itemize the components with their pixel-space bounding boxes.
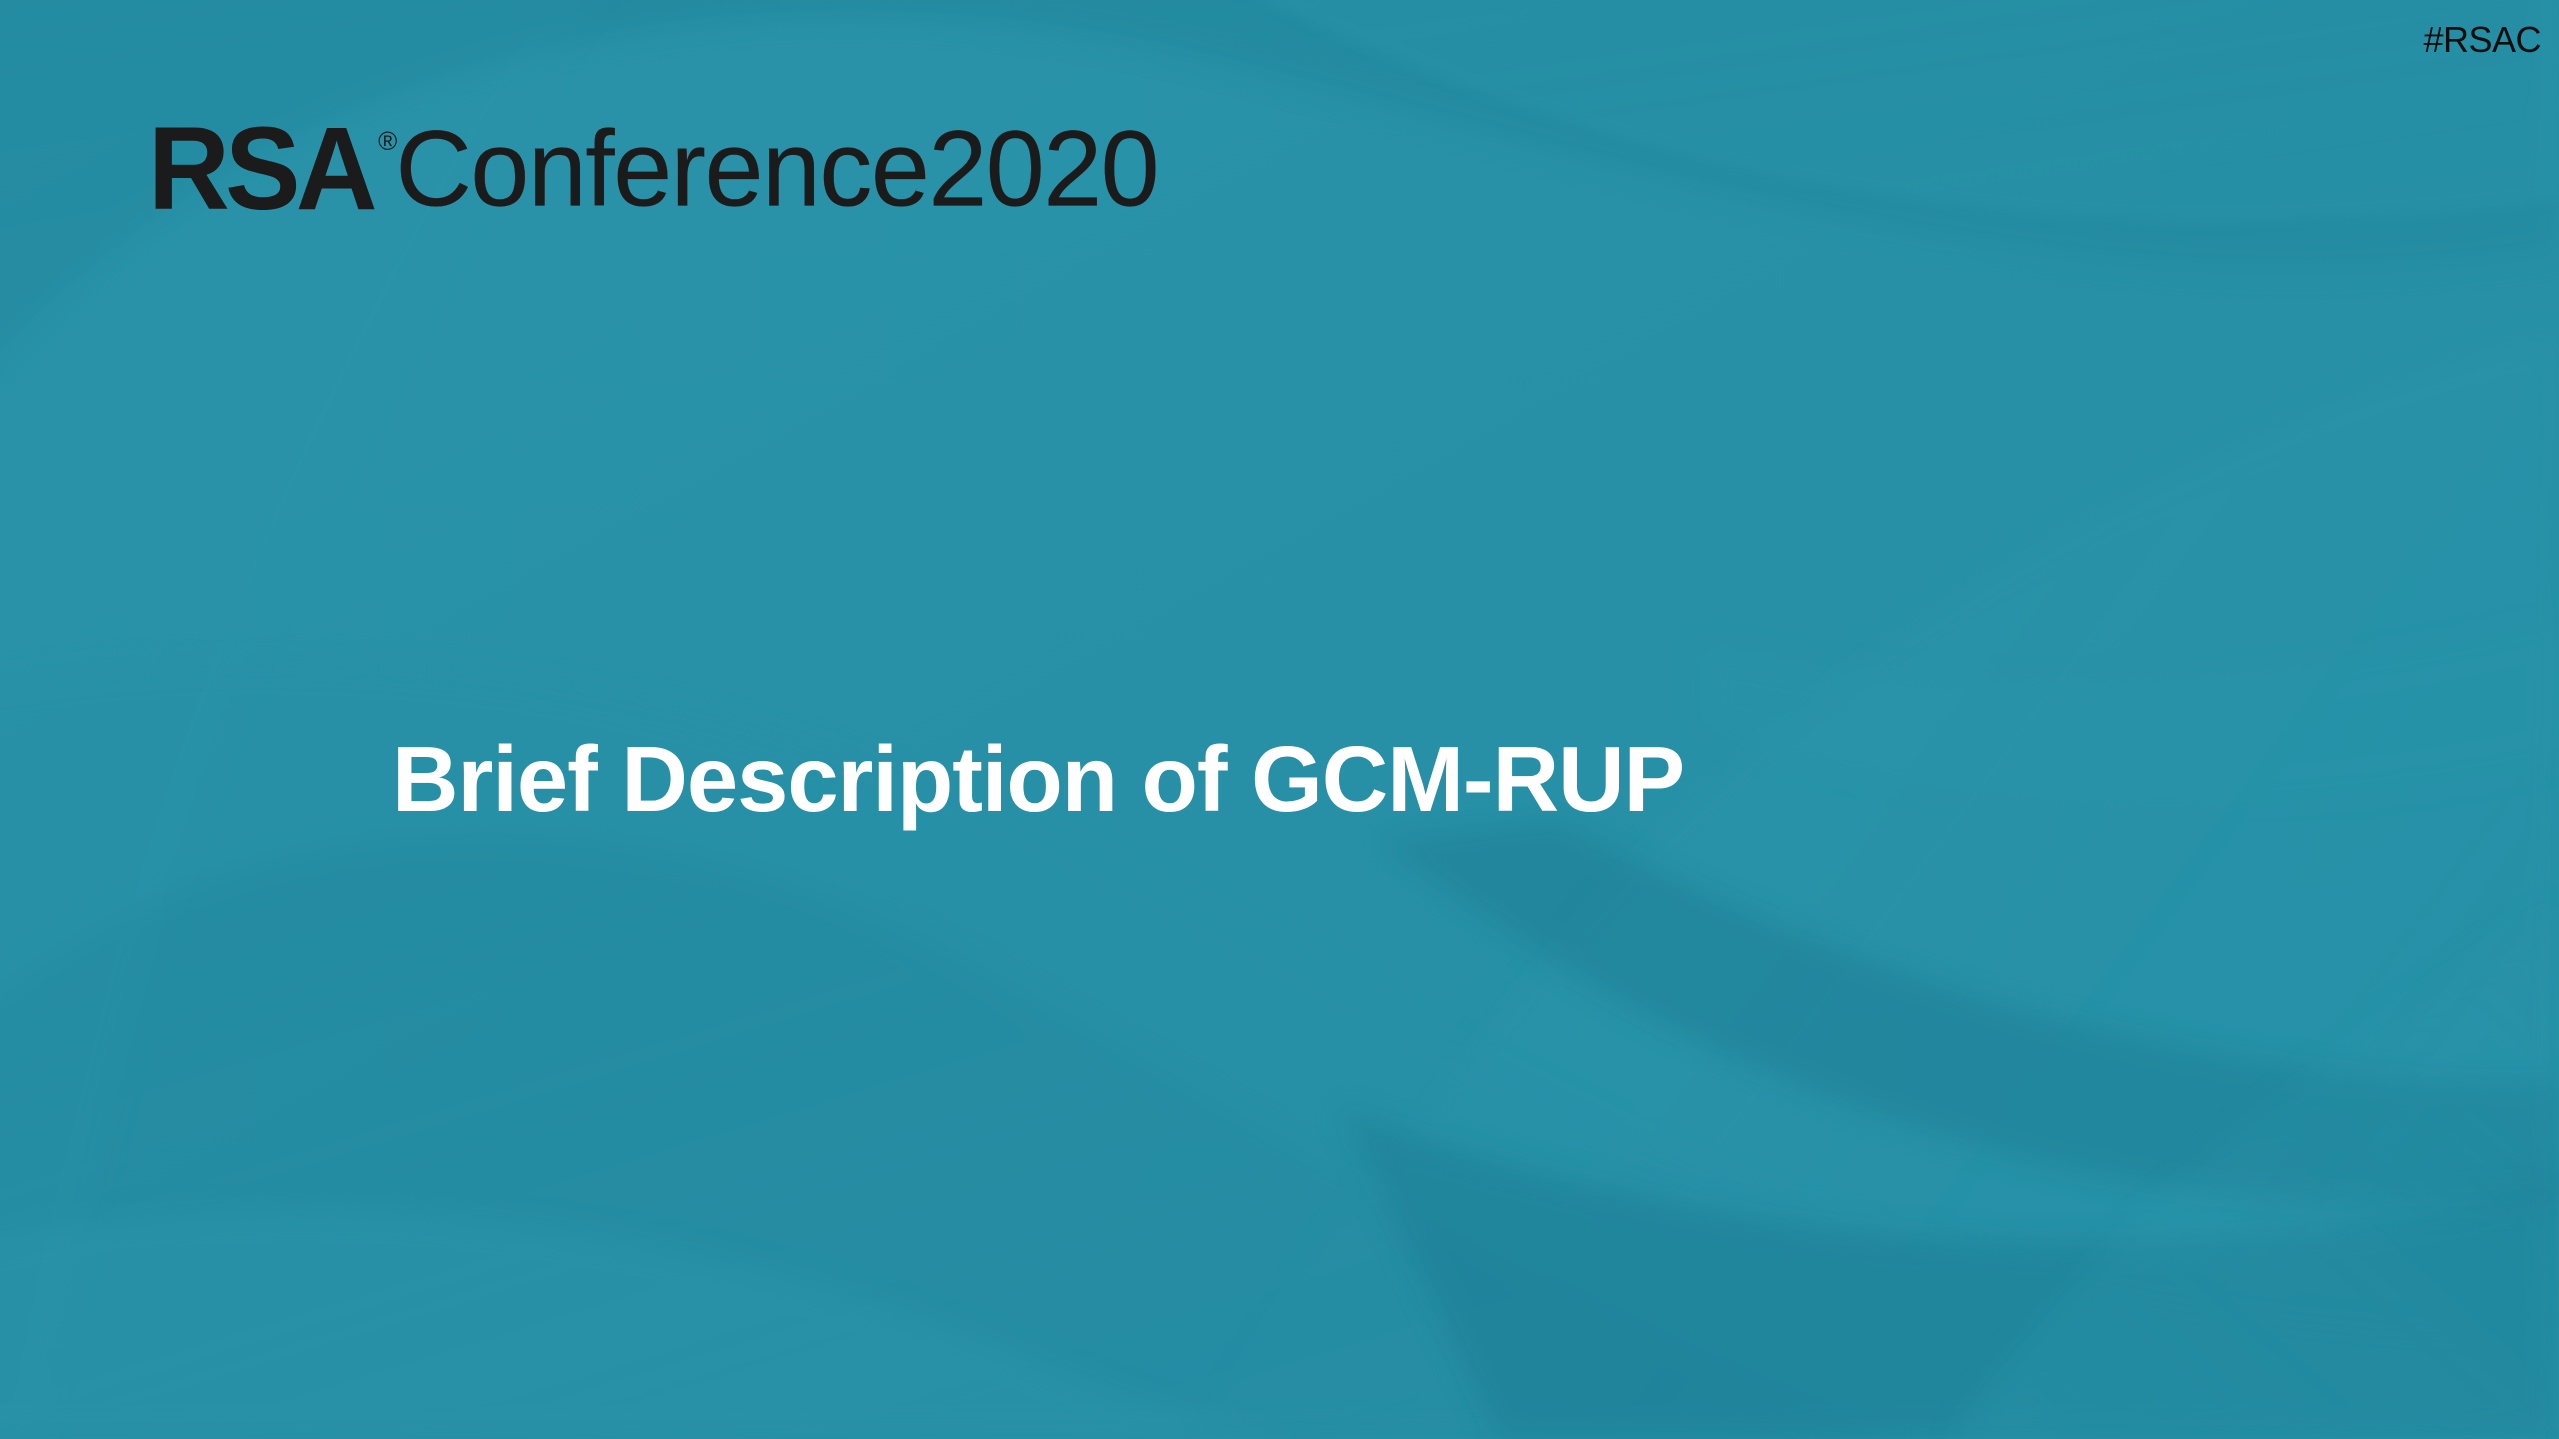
rsa-conference-logo: RSA ® Conference2020 (148, 118, 1158, 222)
presentation-slide: RSA ® Conference2020 #RSAC Brief Descrip… (0, 0, 2559, 1439)
logo-conference-wordmark: Conference2020 (395, 118, 1158, 222)
logo-rsa-mark: RSA (148, 118, 373, 222)
slide-title: Brief Description of GCM-RUP (392, 733, 1684, 826)
rsac-hashtag: #RSAC (2423, 22, 2541, 58)
